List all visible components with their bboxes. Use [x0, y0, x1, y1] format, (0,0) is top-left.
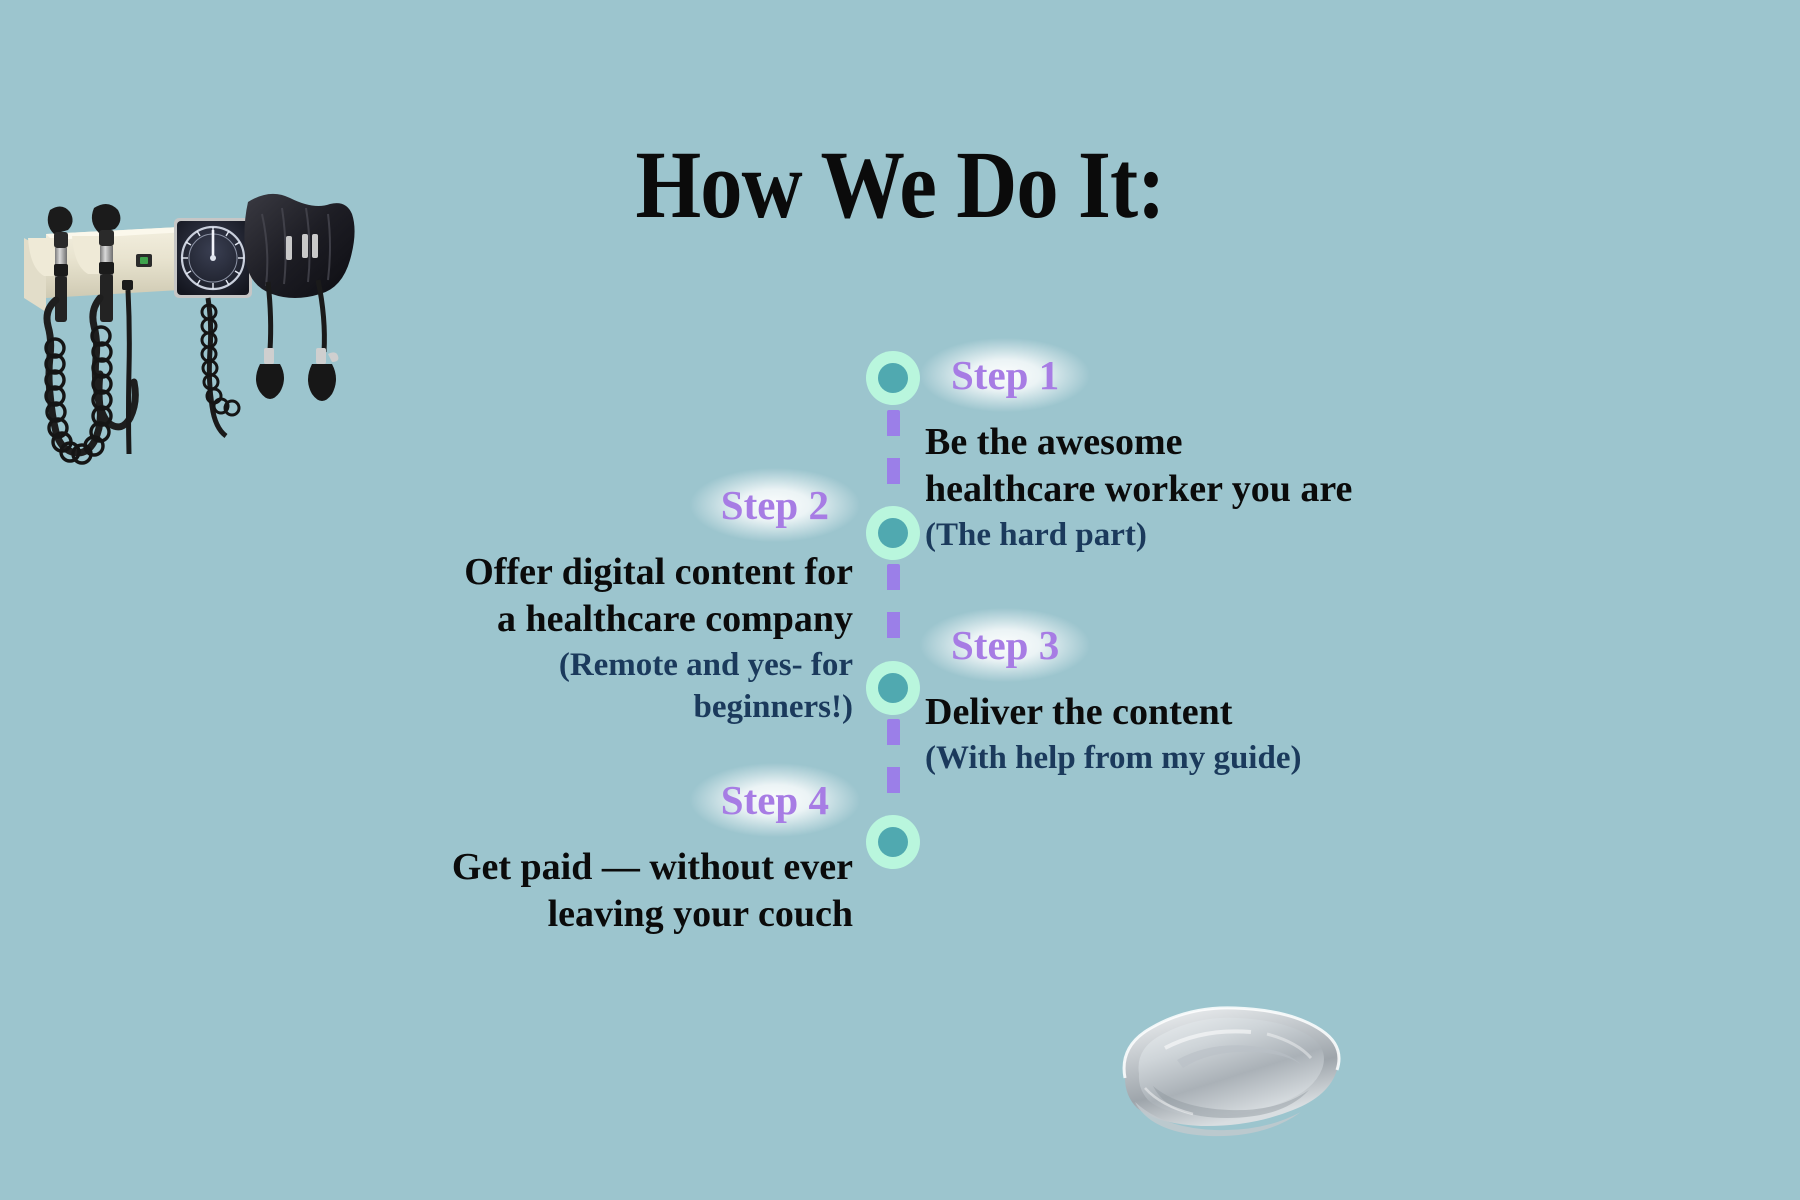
step-1-headline: Be the awesome healthcare worker you are — [925, 419, 1485, 513]
step-3-label-text: Step 3 — [951, 622, 1059, 668]
step-2-subtitle: (Remote and yes- for beginners!) — [293, 644, 853, 728]
timeline-connector-1-2 — [887, 410, 900, 502]
step-2: Step 2 Offer digital content for a healt… — [293, 463, 853, 728]
step-1-label: Step 1 — [905, 333, 1105, 417]
step-3-label: Step 3 — [905, 603, 1105, 687]
step-1-label-text: Step 1 — [951, 352, 1059, 398]
step-4-headline: Get paid — without ever leaving your cou… — [293, 844, 853, 938]
step-3: Step 3 Deliver the content (With help fr… — [925, 603, 1485, 779]
kidney-dish-image — [1105, 990, 1355, 1150]
step-2-label: Step 2 — [675, 463, 875, 547]
step-3-headline: Deliver the content — [925, 689, 1485, 736]
step-2-headline: Offer digital content for a healthcare c… — [293, 549, 853, 643]
timeline: Step 1 Be the awesome healthcare worker … — [0, 0, 1800, 1200]
timeline-connector-2-3 — [887, 564, 900, 656]
step-4-label-text: Step 4 — [721, 777, 829, 823]
step-2-label-text: Step 2 — [721, 482, 829, 528]
step-1-subtitle: (The hard part) — [925, 514, 1485, 556]
step-1: Step 1 Be the awesome healthcare worker … — [925, 333, 1485, 556]
step-3-subtitle: (With help from my guide) — [925, 737, 1485, 779]
timeline-connector-3-4 — [887, 719, 900, 811]
step-4-label: Step 4 — [675, 758, 875, 842]
step-4: Step 4 Get paid — without ever leaving y… — [293, 758, 853, 938]
